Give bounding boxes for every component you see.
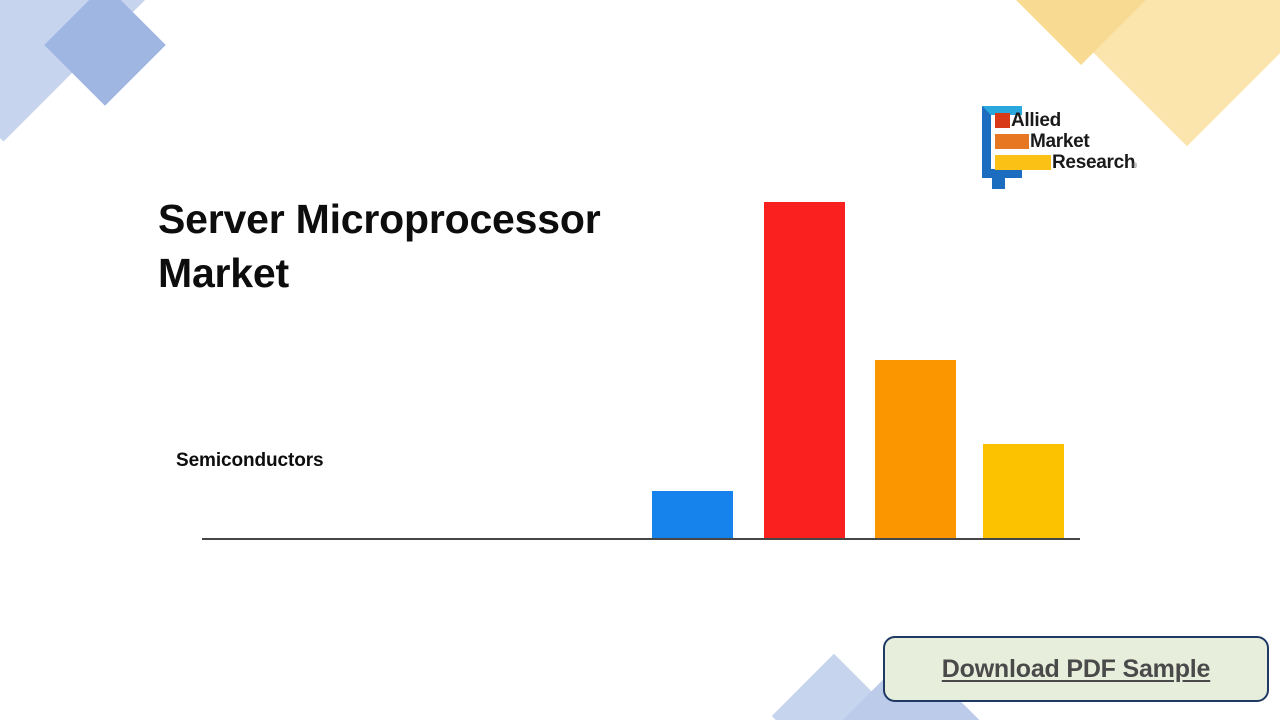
bar-3 [875,360,956,538]
logo-chip-orange-icon [995,134,1029,149]
logo-word-research: Research [1052,152,1135,174]
logo-word-market: Market [1030,131,1089,153]
logo-chip-red-icon [995,113,1010,128]
download-pdf-sample-label: Download PDF Sample [942,655,1210,684]
logo-registered-mark: ® [1132,163,1137,170]
bar-2 [764,202,845,538]
logo-chip-yellow-icon [995,155,1051,170]
download-pdf-sample-button[interactable]: Download PDF Sample [883,636,1269,702]
bar-chart-baseline-axis [202,538,1080,540]
bar-chart-bars [0,0,1280,538]
bar-1 [652,491,733,538]
logo-speech-bubble-tail-icon [992,178,1005,189]
allied-market-research-logo: Allied Market Research ® [980,104,1142,188]
logo-word-allied: Allied [1011,110,1061,132]
slide-canvas: Server Microprocessor Market Semiconduct… [0,0,1280,720]
bar-4 [983,444,1064,538]
